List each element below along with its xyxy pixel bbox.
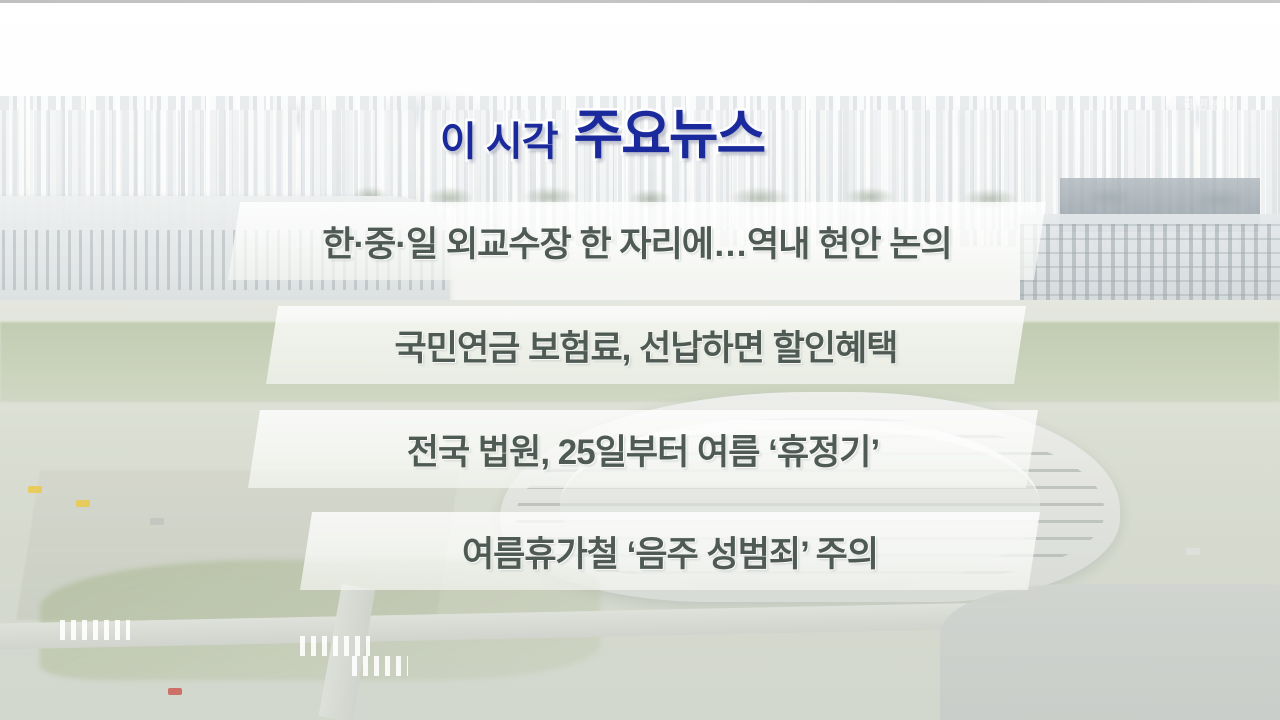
headline-item-2[interactable]: 국민연금 보험료, 선납하면 할인혜택 xyxy=(266,306,1026,384)
headline-text-1: 한·중·일 외교수장 한 자리에…역내 현안 논의 xyxy=(322,216,951,267)
headline-text-4: 여름휴가철 ‘음주 성범죄’ 주의 xyxy=(462,526,878,577)
headline-item-1[interactable]: 한·중·일 외교수장 한 자리에…역내 현안 논의 xyxy=(228,202,1046,280)
headline-item-4[interactable]: 여름휴가철 ‘음주 성범죄’ 주의 xyxy=(300,512,1040,590)
headline-item-3[interactable]: 전국 법원, 25일부터 여름 ‘휴정기’ xyxy=(248,410,1038,488)
broadcast-news-frame: KTV 국민방송 이 시각 주요뉴스 한·중·일 외교수장 한 자리에…역내 현… xyxy=(0,0,1280,720)
headline-list: 한·중·일 외교수장 한 자리에…역내 현안 논의 국민연금 보험료, 선납하면… xyxy=(0,0,1280,720)
headline-text-2: 국민연금 보험료, 선납하면 할인혜택 xyxy=(395,320,898,371)
headline-text-3: 전국 법원, 25일부터 여름 ‘휴정기’ xyxy=(407,424,879,475)
